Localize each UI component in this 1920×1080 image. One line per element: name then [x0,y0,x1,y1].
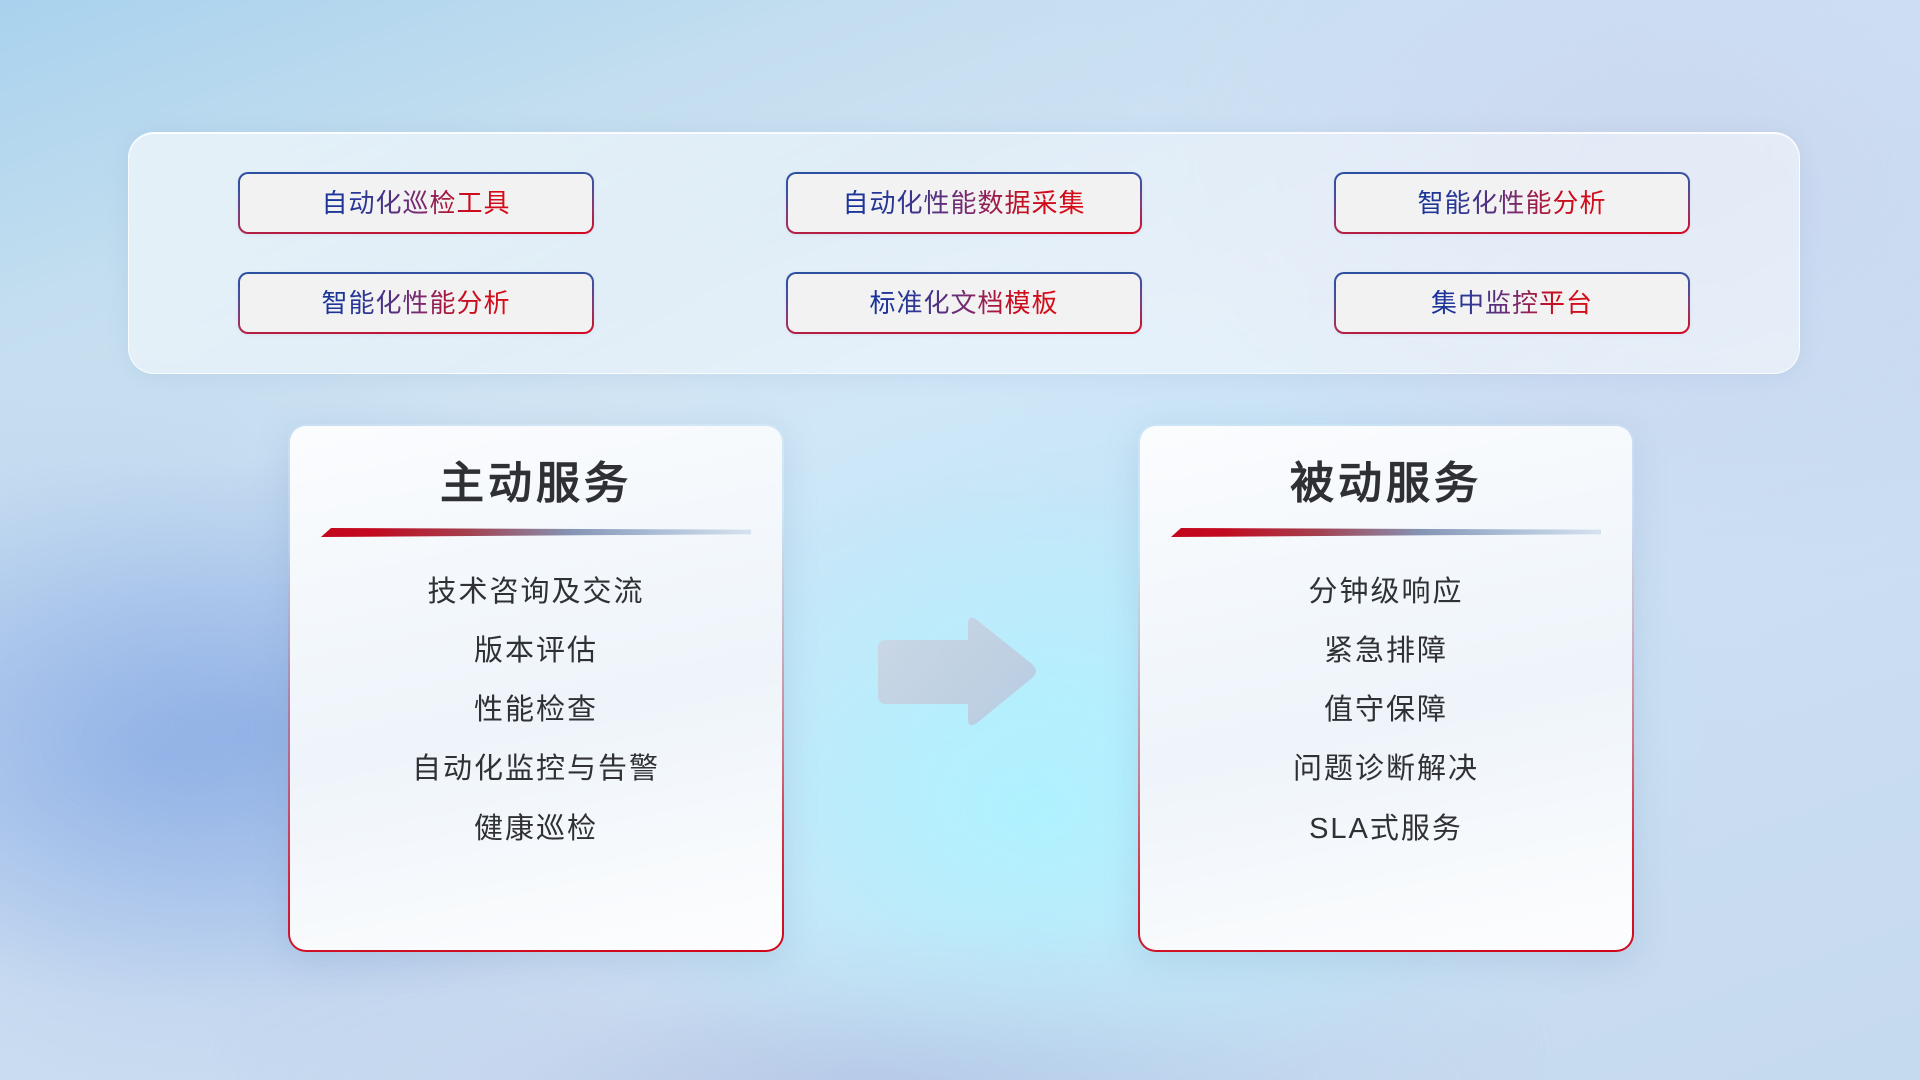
list-item: 值守保障 [1324,691,1448,730]
list-item: SLA式服务 [1309,810,1463,849]
list-item: 分钟级响应 [1308,573,1463,612]
list-item: 问题诊断解决 [1293,750,1479,789]
service-card-proactive: 主动服务 [288,424,784,952]
capability-chip-4[interactable]: 智能化性能分析 [238,272,594,334]
capability-chip-6[interactable]: 集中监控平台 [1334,272,1690,334]
capabilities-panel: 自动化巡检工具 自动化性能数据采集 智能化性能分析 智能化性能分析 标准化文档模… [128,132,1800,374]
service-card-list: 技术咨询及交流 版本评估 性能检查 自动化监控与告警 健康巡检 [290,573,782,849]
list-item: 性能检查 [474,691,598,730]
service-card-body: 被动服务 [1140,426,1632,950]
title-divider [1171,527,1601,539]
service-card-title: 被动服务 [1290,456,1482,511]
background-glow-bottom [230,940,1530,1080]
service-card-title: 主动服务 [440,456,632,511]
list-item: 自动化监控与告警 [412,750,660,789]
capability-chip-2[interactable]: 自动化性能数据采集 [786,172,1142,234]
slide-canvas: 自动化巡检工具 自动化性能数据采集 智能化性能分析 智能化性能分析 标准化文档模… [0,0,1920,1080]
list-item: 技术咨询及交流 [427,573,644,612]
capability-chip-label: 自动化巡检工具 [321,190,510,216]
service-card-body: 主动服务 [290,426,782,950]
title-divider [321,527,751,539]
capability-chip-label: 自动化性能数据采集 [842,190,1085,216]
list-item: 紧急排障 [1324,632,1448,671]
capability-chip-1[interactable]: 自动化巡检工具 [238,172,594,234]
capabilities-grid: 自动化巡检工具 自动化性能数据采集 智能化性能分析 智能化性能分析 标准化文档模… [238,172,1690,334]
capability-chip-label: 标准化文档模板 [869,290,1058,316]
service-card-list: 分钟级响应 紧急排障 值守保障 问题诊断解决 SLA式服务 [1140,573,1632,849]
capability-chip-label: 智能化性能分析 [1417,190,1606,216]
capability-chip-label: 智能化性能分析 [321,290,510,316]
capability-chip-label: 集中监控平台 [1431,290,1593,316]
list-item: 版本评估 [474,632,598,671]
capability-chip-3[interactable]: 智能化性能分析 [1334,172,1690,234]
service-card-reactive: 被动服务 [1138,424,1634,952]
list-item: 健康巡检 [474,810,598,849]
right-arrow-icon [872,612,1040,732]
capability-chip-5[interactable]: 标准化文档模板 [786,272,1142,334]
